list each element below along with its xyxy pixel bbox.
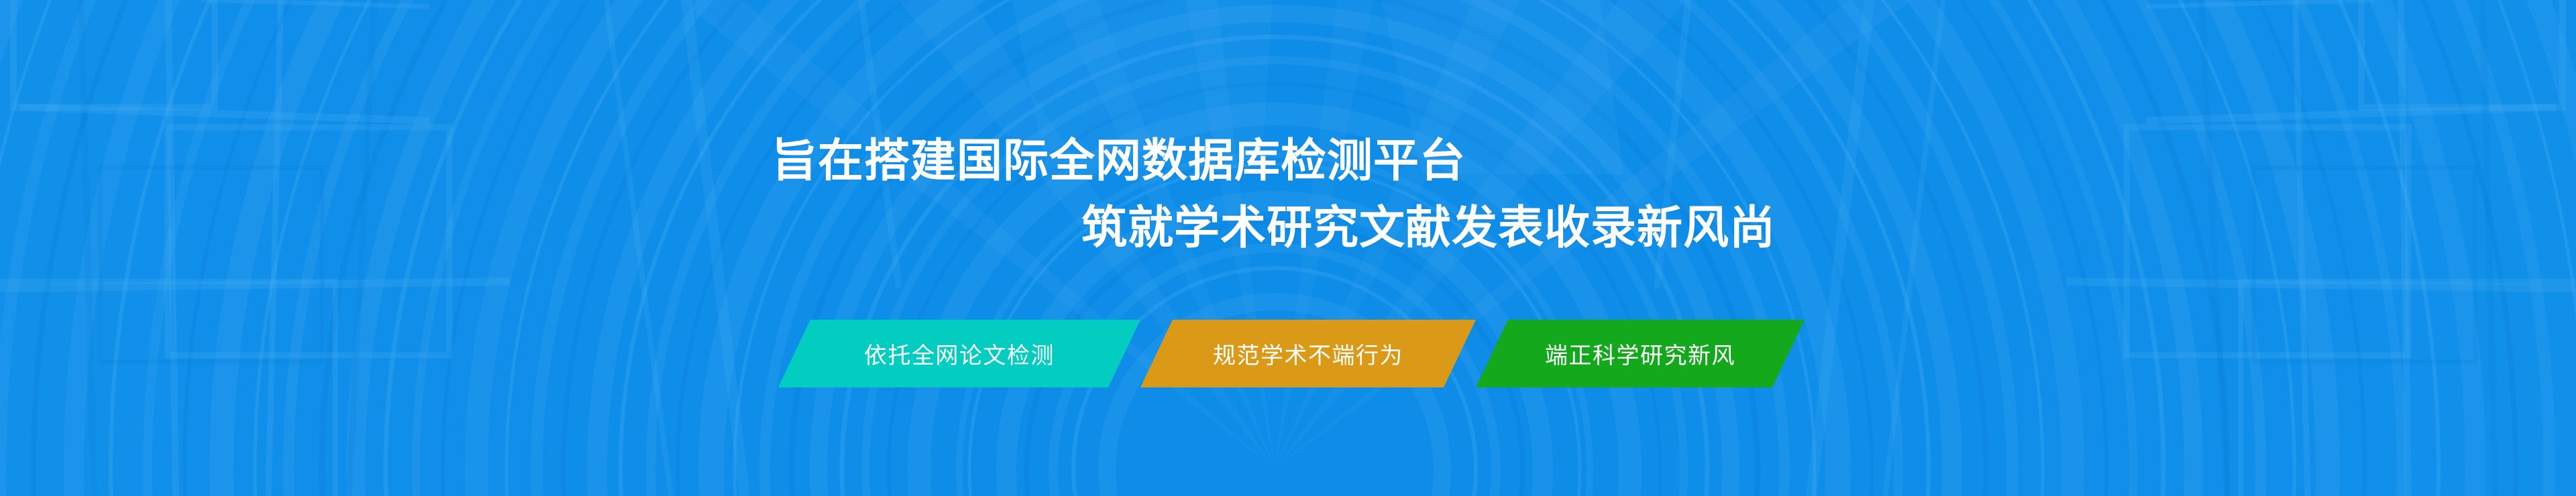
feature-tag-3-label: 端正科学研究新风 bbox=[1545, 337, 1735, 370]
headline-line-1: 旨在搭建国际全网数据库检测平台 bbox=[771, 138, 1466, 184]
headline-line-2: 筑就学术研究文献发表收录新风尚 bbox=[1081, 205, 1776, 251]
feature-tag-2[interactable]: 规范学术不端行为 bbox=[1140, 320, 1476, 387]
feature-tag-strip: 依托全网论文检测 规范学术不端行为 端正科学研究新风 bbox=[778, 320, 1805, 387]
feature-tag-2-label: 规范学术不端行为 bbox=[1213, 337, 1403, 370]
promo-banner: 旨在搭建国际全网数据库检测平台 筑就学术研究文献发表收录新风尚 依托全网论文检测… bbox=[0, 0, 2576, 496]
headline-block: 旨在搭建国际全网数据库检测平台 筑就学术研究文献发表收录新风尚 bbox=[0, 0, 2576, 496]
feature-tag-1[interactable]: 依托全网论文检测 bbox=[778, 320, 1140, 387]
feature-tag-3[interactable]: 端正科学研究新风 bbox=[1476, 320, 1805, 387]
feature-tag-1-label: 依托全网论文检测 bbox=[864, 337, 1055, 370]
